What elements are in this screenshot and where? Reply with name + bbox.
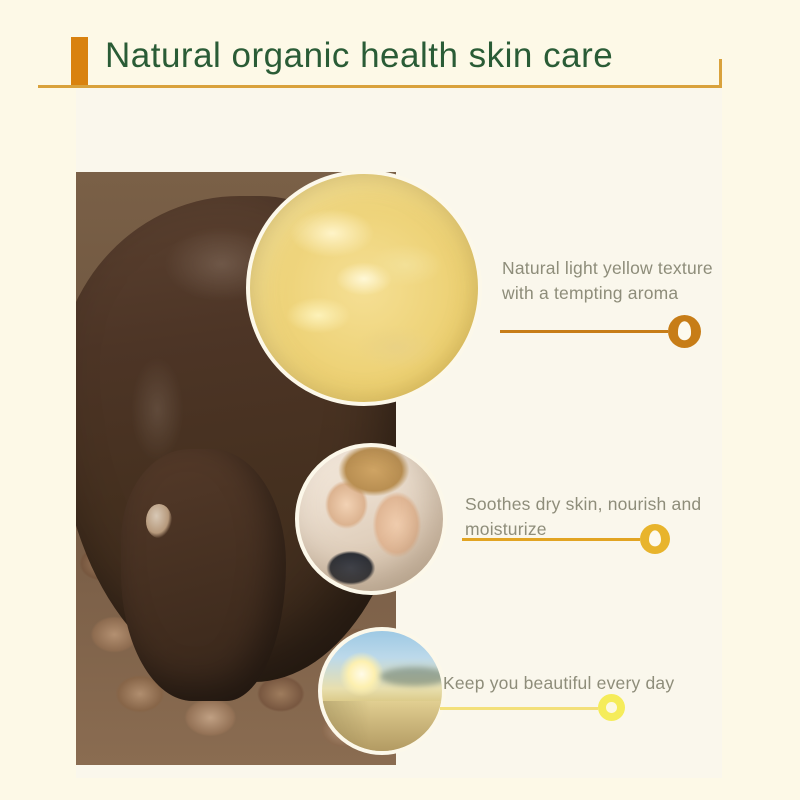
product-infographic: Natural organic health skin care Natural… (0, 0, 800, 800)
header-divider (38, 85, 722, 88)
feature-1-connector-line (500, 330, 668, 333)
feature-1-line2: with a tempting aroma (502, 281, 713, 306)
pin-inner-shape (649, 530, 662, 547)
location-pin-icon (640, 524, 670, 554)
feature-1-text: Natural light yellow texture with a temp… (502, 256, 713, 306)
feature-2-connector-line (462, 538, 640, 541)
feature-3-connector-line (440, 707, 598, 710)
cloud-shape (380, 667, 446, 686)
feature-image-landscape (318, 627, 446, 755)
feature-3-text: Keep you beautiful every day (443, 671, 674, 696)
header-divider-end-tick (719, 59, 722, 88)
location-pin-icon (668, 315, 701, 348)
feature-1-line1: Natural light yellow texture (502, 256, 713, 281)
feature-2-line1: Soothes dry skin, nourish and (465, 492, 701, 517)
ring-inner-shape (606, 702, 617, 713)
ring-dot-icon (598, 694, 625, 721)
header-accent-bar (71, 37, 88, 85)
pin-inner-shape (678, 322, 692, 340)
feature-image-woman (295, 443, 447, 595)
feature-image-shea-butter (246, 170, 482, 406)
page-title: Natural organic health skin care (105, 36, 613, 76)
feature-3-line1: Keep you beautiful every day (443, 671, 674, 696)
